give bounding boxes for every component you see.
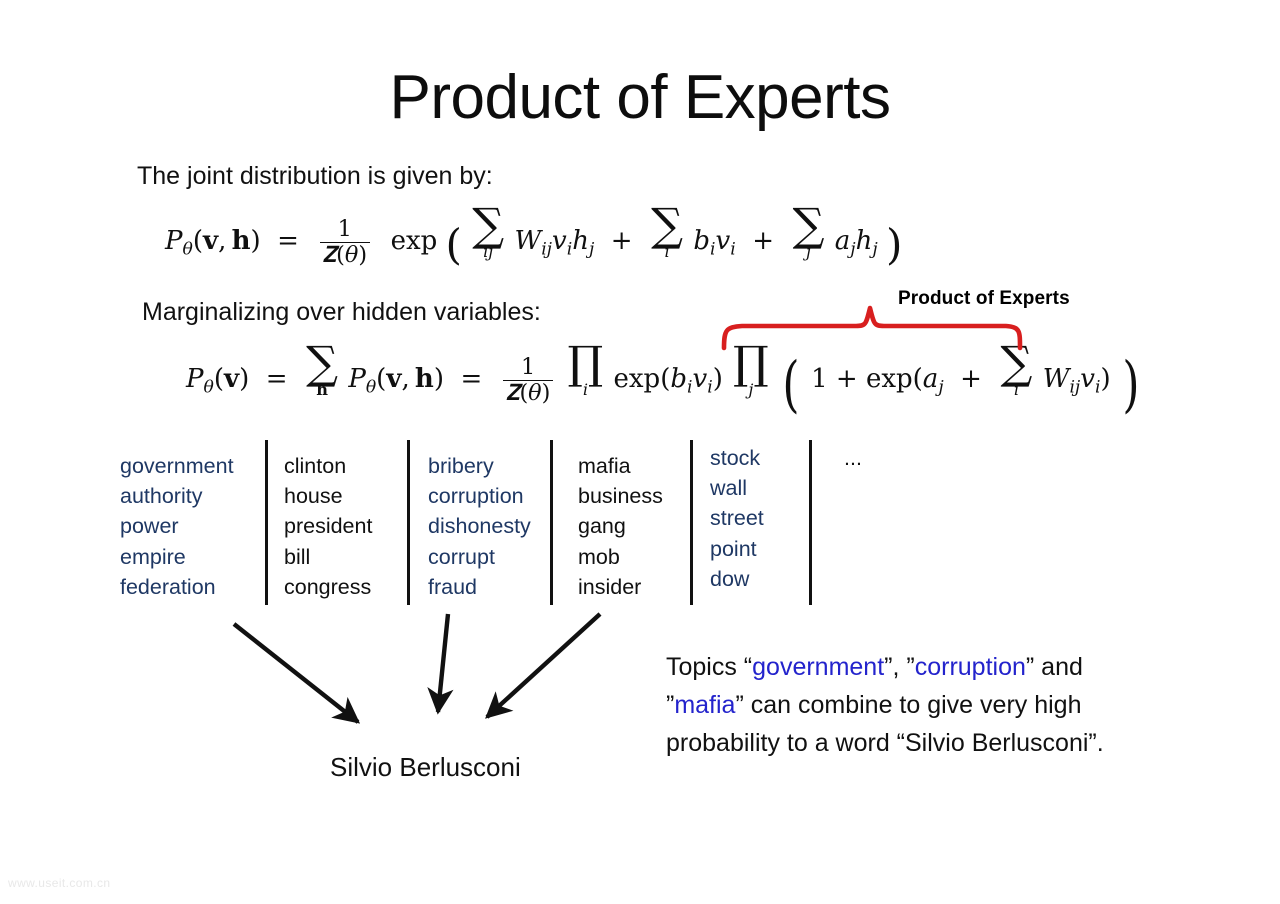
- topic-column-government: government authority power empire federa…: [120, 451, 234, 602]
- column-separator: [265, 440, 268, 605]
- topic-word: authority: [120, 481, 234, 511]
- column-separator: [407, 440, 410, 605]
- topic-word: mafia: [578, 451, 663, 481]
- page-title: Product of Experts: [0, 64, 1280, 132]
- topic-word: point: [710, 534, 764, 564]
- topic-word: fraud: [428, 572, 531, 602]
- topic-column-ellipsis: ...: [844, 443, 862, 473]
- topic-word: gang: [578, 511, 663, 541]
- topic-word: bribery: [428, 451, 531, 481]
- converging-arrows: [210, 612, 640, 752]
- topic-word: dow: [710, 564, 764, 594]
- explanation-paragraph: Topics “government”, ”corruption” and ”m…: [666, 648, 1158, 762]
- topic-word: corrupt: [428, 542, 531, 572]
- topic-word: stock: [710, 443, 764, 473]
- topic-word: corruption: [428, 481, 531, 511]
- topic-column-clinton: clinton house president bill congress: [284, 451, 372, 602]
- arrow-government: [234, 624, 358, 722]
- topic-word: insider: [578, 572, 663, 602]
- topic-word: president: [284, 511, 372, 541]
- highlight-government: government: [752, 653, 884, 681]
- topic-word: business: [578, 481, 663, 511]
- topic-word: congress: [284, 572, 372, 602]
- arrow-corruption: [438, 614, 448, 712]
- topic-word: government: [120, 451, 234, 481]
- highlight-mafia: mafia: [674, 691, 735, 719]
- topic-word: wall: [710, 473, 764, 503]
- marginalizing-label: Marginalizing over hidden variables:: [142, 298, 541, 327]
- topic-word: street: [710, 503, 764, 533]
- topic-word-columns: government authority power empire federa…: [118, 440, 908, 612]
- column-separator: [690, 440, 693, 605]
- product-of-experts-annotation: Product of Experts: [898, 288, 1070, 310]
- topic-column-mafia: mafia business gang mob insider: [578, 451, 663, 602]
- equation-marginal-distribution: Pθ(v) = ∑h Pθ(v, h) = 1𝐙(θ) ∏i exp(bivi)…: [186, 344, 1143, 420]
- target-word-label: Silvio Berlusconi: [330, 752, 521, 783]
- topic-word: mob: [578, 542, 663, 572]
- topic-word: house: [284, 481, 372, 511]
- topic-word: clinton: [284, 451, 372, 481]
- arrow-mafia: [487, 614, 600, 717]
- column-separator: [809, 440, 812, 605]
- topic-column-stock: stock wall street point dow: [710, 443, 764, 594]
- slide-canvas: Product of Experts The joint distributio…: [0, 0, 1280, 904]
- source-watermark: www.useit.com.cn: [8, 876, 110, 890]
- topic-word: bill: [284, 542, 372, 572]
- topic-word: empire: [120, 542, 234, 572]
- topic-word: power: [120, 511, 234, 541]
- explanation-segment: ”, ”: [884, 653, 915, 681]
- topic-column-bribery: bribery corruption dishonesty corrupt fr…: [428, 451, 531, 602]
- highlight-corruption: corruption: [915, 653, 1026, 681]
- explanation-segment: Topics “: [666, 653, 752, 681]
- topic-word-ellipsis: ...: [844, 443, 862, 473]
- column-separator: [550, 440, 553, 605]
- equation-joint-distribution: Pθ(v, h) = 1𝐙(θ) exp ( ∑ij Wijvihj + ∑i …: [165, 206, 902, 269]
- joint-distribution-label: The joint distribution is given by:: [137, 162, 493, 191]
- topic-word: federation: [120, 572, 234, 602]
- topic-word: dishonesty: [428, 511, 531, 541]
